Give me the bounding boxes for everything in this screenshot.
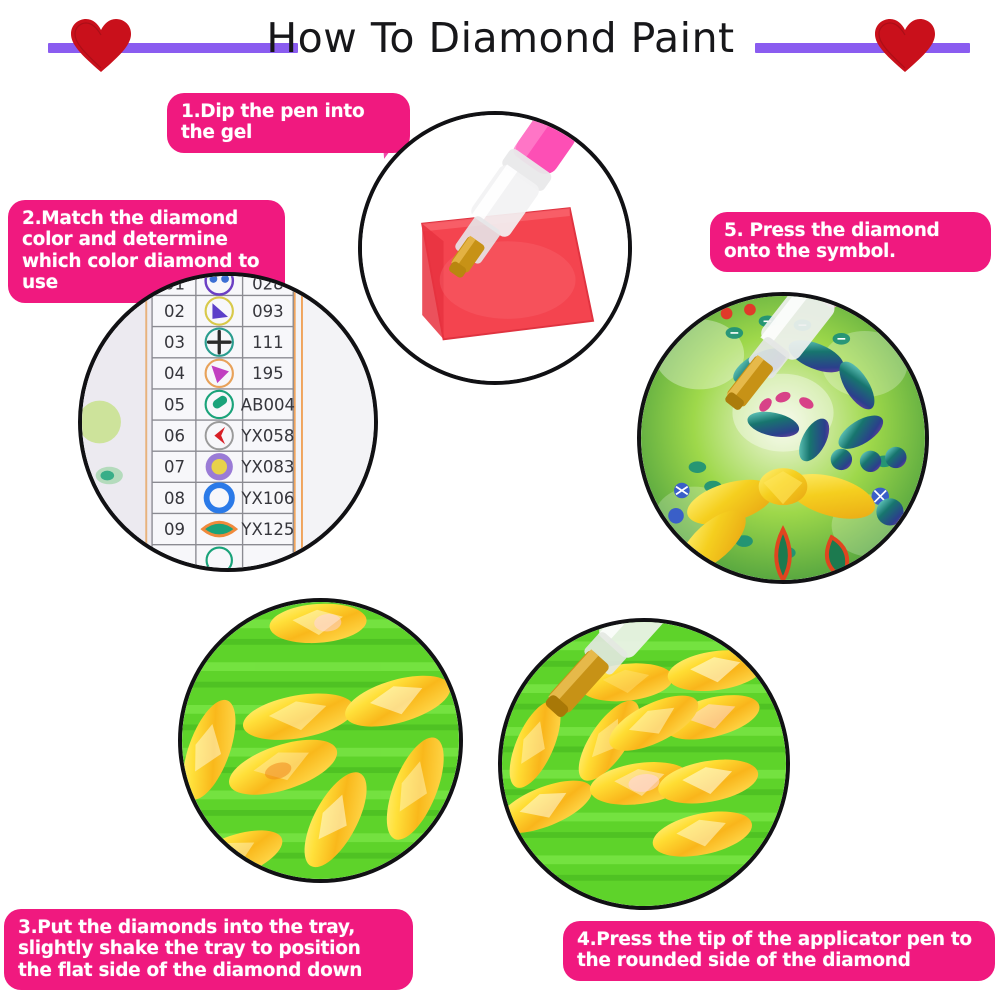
svg-text:03: 03	[164, 333, 185, 352]
photo-pen-dipping-gel	[358, 111, 632, 385]
svg-text:093: 093	[252, 302, 284, 321]
svg-text:YX058: YX058	[240, 426, 294, 445]
photo-pen-picking-diamond	[498, 618, 790, 910]
svg-text:04: 04	[164, 364, 185, 383]
photo-diamond-onto-symbol	[637, 292, 929, 584]
svg-text:111: 111	[252, 333, 284, 352]
svg-text:05: 05	[164, 395, 185, 414]
header-banner: How To Diamond Paint	[0, 0, 1001, 86]
step-1-callout: 1.Dip the pen into the gel	[167, 93, 410, 153]
svg-text:06: 06	[164, 426, 185, 445]
step-3-callout: 3.Put the diamonds into the tray, slight…	[4, 909, 413, 990]
step-4-callout: 4.Press the tip of the applicator pen to…	[563, 921, 995, 981]
svg-text:YX106: YX106	[240, 489, 294, 508]
svg-text:195: 195	[252, 364, 284, 383]
photo-diamonds-in-tray	[178, 598, 463, 883]
svg-text:YX083: YX083	[240, 458, 294, 477]
svg-text:08: 08	[164, 489, 185, 508]
page-title: How To Diamond Paint	[0, 14, 1001, 62]
step-5-callout: 5. Press the diamond onto the symbol.	[710, 212, 991, 272]
photo-color-chart: 01 028 02093 03111 04195	[78, 272, 378, 572]
svg-text:09: 09	[164, 520, 185, 539]
svg-text:AB004: AB004	[241, 395, 295, 414]
svg-text:YX125: YX125	[240, 520, 294, 539]
svg-text:02: 02	[164, 302, 185, 321]
svg-text:07: 07	[164, 458, 185, 477]
